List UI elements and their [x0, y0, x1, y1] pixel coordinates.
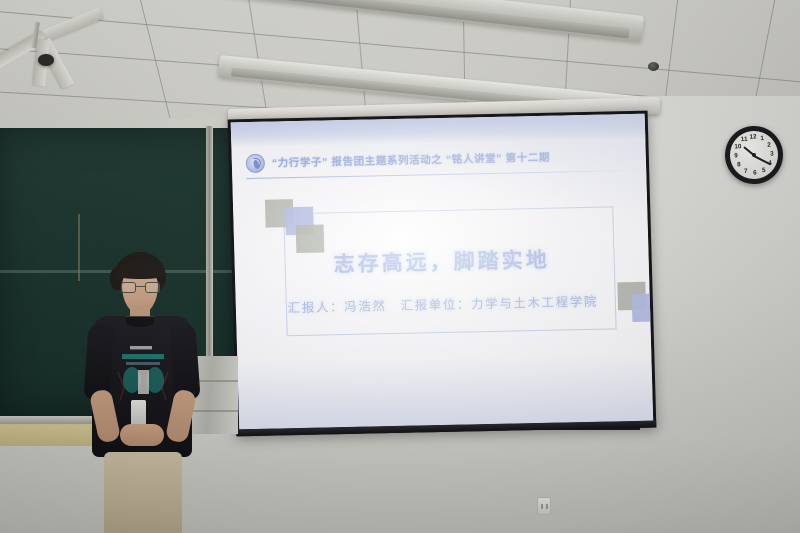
shirt-collar [126, 316, 154, 327]
glasses-icon [121, 282, 160, 293]
glasses-bridge [136, 286, 145, 287]
clock-numeral: 10 [734, 143, 741, 150]
shirt-sleeve-left [83, 323, 114, 401]
clock-numeral: 11 [741, 136, 748, 143]
glasses-lens [121, 282, 136, 293]
pants-seam [78, 214, 80, 281]
ceiling-grid-line [130, 0, 184, 132]
fan-blade [42, 7, 104, 41]
clock-numeral: 12 [749, 133, 756, 140]
shirt-sleeve-right [169, 323, 200, 401]
classroom-photo: “力行学子” 报告团主题系列活动之 “铭人讲堂” 第十二期 志存高远，脚踏实地 … [0, 0, 800, 533]
clock-numeral: 1 [760, 135, 764, 142]
glasses-lens [145, 282, 160, 293]
presenter-pants [104, 452, 182, 533]
wall-clock: 121234567891011 [724, 125, 785, 186]
presentation-slide: “力行学子” 报告团主题系列活动之 “铭人讲堂” 第十二期 志存高远，脚踏实地 … [231, 114, 653, 430]
university-emblem-icon [246, 153, 266, 172]
outlet-slot [541, 504, 543, 509]
screen-frame: “力行学子” 报告团主题系列活动之 “铭人讲堂” 第十二期 志存高远，脚踏实地 … [228, 111, 657, 437]
clock-numeral: 3 [770, 150, 774, 157]
power-outlet [537, 497, 551, 515]
clock-numeral: 2 [767, 142, 771, 149]
fan-hub [38, 54, 54, 66]
ceiling-sensor-icon [648, 62, 659, 71]
screen-surface: “力行学子” 报告团主题系列活动之 “铭人讲堂” 第十二期 志存高远，脚踏实地 … [231, 114, 653, 430]
clock-numeral: 8 [737, 161, 741, 168]
clock-face: 121234567891011 [729, 130, 779, 180]
clock-numeral: 5 [762, 166, 766, 173]
clock-numeral: 9 [734, 152, 738, 159]
clock-numeral: 6 [753, 169, 757, 176]
projection-screen: “力行学子” 报告团主题系列活动之 “铭人讲堂” 第十二期 志存高远，脚踏实地 … [228, 103, 660, 433]
slide-header-text: “力行学子” 报告团主题系列活动之 “铭人讲堂” 第十二期 [272, 149, 551, 170]
presenter-hands [120, 424, 164, 446]
shirt-graphic [114, 344, 172, 406]
outlet-slot [546, 504, 548, 509]
presenter [78, 252, 206, 533]
clock-numeral: 7 [744, 167, 748, 174]
